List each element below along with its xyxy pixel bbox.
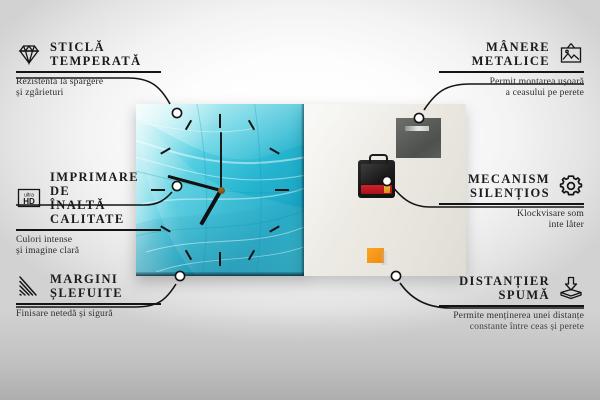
hour-hand — [199, 189, 222, 226]
callout-rule — [16, 303, 161, 305]
metal-hanger — [396, 118, 441, 158]
ultra-hd-icon: ultra HD — [16, 185, 42, 211]
callout-mecanism-silentios: MECANISMSILENȚIOS Klockvisare sominte lå… — [439, 172, 584, 231]
callout-title: MÂNEREMETALICE — [472, 40, 550, 68]
picture-frame-icon — [558, 41, 584, 67]
callout-subtitle: Permite menținerea unei distanțeconstant… — [439, 310, 584, 333]
clock-mechanism — [358, 160, 395, 198]
callout-header: MECANISMSILENȚIOS — [439, 172, 584, 200]
hour-tick — [269, 147, 280, 154]
callout-subtitle: Finisare netedă și sigură — [16, 308, 161, 320]
hour-tick — [269, 225, 280, 232]
hour-tick — [160, 147, 171, 154]
callout-header: MÂNEREMETALICE — [439, 40, 584, 68]
callout-subtitle: Rezistentă la spargereși zgârieturi — [16, 76, 161, 99]
battery — [361, 185, 392, 194]
hour-tick — [219, 114, 221, 128]
gear-icon — [558, 173, 584, 199]
callout-header: STICLĂTEMPERATĂ — [16, 40, 161, 68]
clock-front-panel — [136, 104, 306, 276]
second-hand — [220, 132, 222, 190]
callout-title: MECANISMSILENȚIOS — [468, 172, 550, 200]
callout-rule — [16, 229, 161, 231]
foam-spacer-icon — [558, 275, 584, 301]
hour-tick — [185, 120, 192, 131]
minute-hand — [167, 175, 221, 192]
hour-tick — [248, 120, 255, 131]
hour-tick — [185, 250, 192, 261]
hour-tick — [248, 250, 255, 261]
callout-title: IMPRIMARE DEÎNALTĂ CALITATE — [50, 170, 161, 226]
callout-header: MARGINIȘLEFUITE — [16, 272, 161, 300]
mechanism-tab — [369, 154, 388, 164]
callout-subtitle: Klockvisare sominte låter — [439, 208, 584, 231]
callout-title: DISTANȚIERSPUMĂ — [459, 274, 550, 302]
infographic-canvas: STICLĂTEMPERATĂ Rezistentă la spargereși… — [0, 0, 600, 400]
glass-edge-bottom — [136, 272, 306, 276]
foam-spacer — [367, 248, 384, 263]
callout-subtitle: Culori intenseși imagine clară — [16, 234, 161, 257]
clock-pivot — [218, 187, 225, 194]
callout-header: DISTANȚIERSPUMĂ — [439, 274, 584, 302]
mechanism-highlight — [361, 164, 391, 184]
beveled-edge-icon — [16, 273, 42, 299]
callout-distantier-spuma: DISTANȚIERSPUMĂ Permite menținerea unei … — [439, 274, 584, 333]
callout-sticla-temperata: STICLĂTEMPERATĂ Rezistentă la spargereși… — [16, 40, 161, 99]
diamond-icon — [16, 41, 42, 67]
hour-tick — [275, 189, 289, 191]
product-composite — [136, 104, 466, 276]
callout-title: STICLĂTEMPERATĂ — [50, 40, 142, 68]
hour-tick — [160, 225, 171, 232]
callout-title: MARGINIȘLEFUITE — [50, 272, 123, 300]
hour-tick — [219, 252, 221, 266]
svg-text:HD: HD — [23, 197, 35, 206]
callout-header: ultra HD IMPRIMARE DEÎNALTĂ CALITATE — [16, 170, 161, 226]
callout-subtitle: Permit montarea ușoarăa ceasului pe pere… — [439, 76, 584, 99]
callout-rule — [439, 305, 584, 307]
hanger-slot — [405, 126, 429, 131]
callout-margini-slefuite: MARGINIȘLEFUITE Finisare netedă și sigur… — [16, 272, 161, 319]
callout-rule — [16, 71, 161, 73]
callout-imprimare-calitate: ultra HD IMPRIMARE DEÎNALTĂ CALITATE Cul… — [16, 170, 161, 257]
callout-rule — [439, 203, 584, 205]
callout-rule — [439, 71, 584, 73]
clock-dial — [136, 104, 306, 276]
callout-manere-metalice: MÂNEREMETALICE Permit montarea ușoarăa c… — [439, 40, 584, 99]
